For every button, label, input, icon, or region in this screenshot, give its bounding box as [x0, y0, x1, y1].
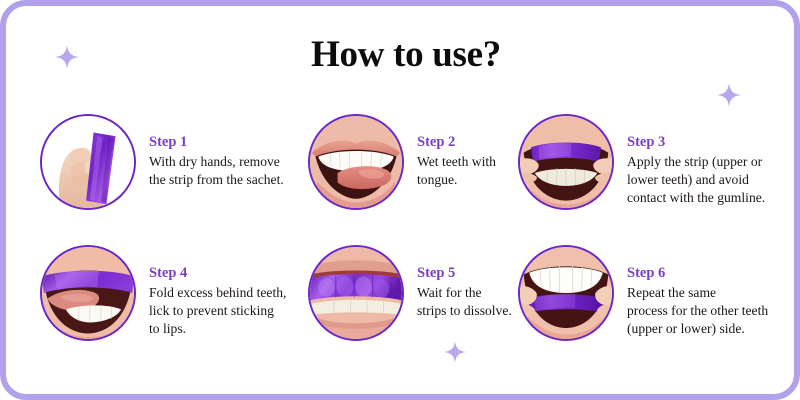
steps-row-2: Step 4 Fold excess behind teeth, lick to… — [40, 245, 778, 369]
step-6-photo-ring — [518, 245, 614, 341]
folding-strip-behind-teeth-image — [42, 247, 134, 339]
step-3-photo-ring — [518, 114, 614, 210]
step-3-label: Step 3 — [627, 134, 765, 151]
step-item-3: Step 3 Apply the strip (upper or lower t… — [518, 114, 778, 238]
steps-grid: Step 1 With dry hands, remove the strip … — [40, 114, 778, 369]
step-1-photo-ring — [40, 114, 136, 210]
strip-dissolving-on-teeth-image — [310, 247, 402, 339]
step-2-label: Step 2 — [417, 134, 496, 151]
step-item-1: Step 1 With dry hands, remove the strip … — [40, 114, 308, 238]
step-2-photo-ring — [308, 114, 404, 210]
step-6-label: Step 6 — [627, 265, 768, 282]
step-1-text: Step 1 With dry hands, remove the strip … — [136, 114, 284, 189]
sparkle-top-right-icon — [717, 83, 741, 107]
step-5-text: Step 5 Wait for the strips to dissolve. — [404, 245, 512, 320]
step-1-label: Step 1 — [149, 134, 284, 151]
step-4-description: Fold excess behind teeth, lick to preven… — [149, 284, 286, 338]
applying-strip-to-upper-teeth-image — [520, 116, 612, 208]
step-5-photo-ring — [308, 245, 404, 341]
step-item-4: Step 4 Fold excess behind teeth, lick to… — [40, 245, 308, 369]
page-title: How to use? — [6, 33, 800, 76]
step-2-text: Step 2 Wet teeth with tongue. — [404, 114, 496, 189]
step-2-description: Wet teeth with tongue. — [417, 153, 496, 189]
applying-strip-to-lower-teeth-image — [520, 247, 612, 339]
step-5-description: Wait for the strips to dissolve. — [417, 284, 512, 320]
step-6-description: Repeat the same process for the other te… — [627, 284, 768, 338]
step-3-text: Step 3 Apply the strip (upper or lower t… — [614, 114, 765, 206]
step-6-text: Step 6 Repeat the same process for the o… — [614, 245, 768, 337]
poster-root: How to use? — [0, 0, 800, 400]
step-4-photo-ring — [40, 245, 136, 341]
step-5-label: Step 5 — [417, 265, 512, 282]
step-item-6: Step 6 Repeat the same process for the o… — [518, 245, 778, 369]
hand-holding-purple-strip-image — [42, 116, 134, 208]
step-item-2: Step 2 Wet teeth with tongue. — [308, 114, 518, 238]
step-1-description: With dry hands, remove the strip from th… — [149, 153, 284, 189]
step-3-description: Apply the strip (upper or lower teeth) a… — [627, 153, 765, 207]
steps-row-1: Step 1 With dry hands, remove the strip … — [40, 114, 778, 238]
step-item-5: Step 5 Wait for the strips to dissolve. — [308, 245, 518, 369]
mouth-wetting-teeth-with-tongue-image — [310, 116, 402, 208]
step-4-label: Step 4 — [149, 265, 286, 282]
step-4-text: Step 4 Fold excess behind teeth, lick to… — [136, 245, 286, 337]
